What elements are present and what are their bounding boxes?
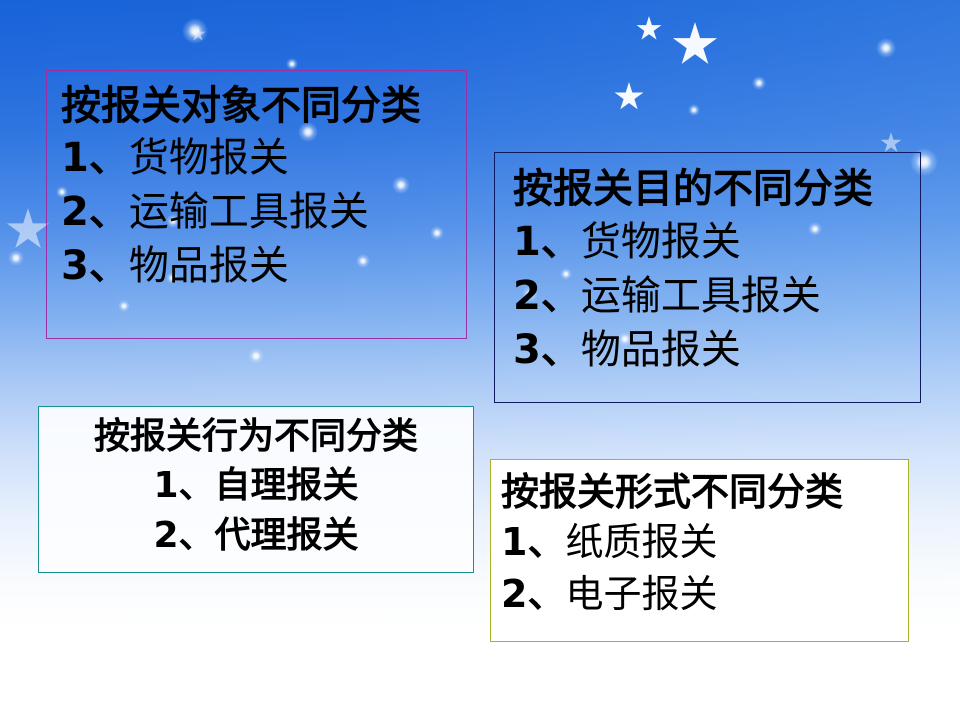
box-purpose-item-2: 2、运输工具报关 xyxy=(513,269,920,323)
box-object-item-3: 3、物品报关 xyxy=(61,239,466,293)
slide-canvas: 按报关对象不同分类 1、货物报关 2、运输工具报关 3、物品报关 按报关目的不同… xyxy=(0,0,960,720)
classification-box-behavior: 按报关行为不同分类 1、自理报关 2、代理报关 xyxy=(38,406,474,573)
box-form-item-1: 1、纸质报关 xyxy=(501,516,908,568)
item-number: 1、 xyxy=(513,219,581,265)
classification-box-object: 按报关对象不同分类 1、货物报关 2、运输工具报关 3、物品报关 xyxy=(46,70,467,339)
item-text: 电子报关 xyxy=(565,572,717,616)
box-form-title: 按报关形式不同分类 xyxy=(501,468,908,516)
item-text: 货物报关 xyxy=(581,219,741,265)
item-number: 2、 xyxy=(61,189,129,235)
box-object-title: 按报关对象不同分类 xyxy=(61,81,466,131)
item-number: 2、 xyxy=(501,572,565,616)
classification-box-form: 按报关形式不同分类 1、纸质报关 2、电子报关 xyxy=(490,459,909,642)
item-number: 3、 xyxy=(61,243,129,289)
box-behavior-title: 按报关行为不同分类 xyxy=(39,413,473,461)
item-number: 2、 xyxy=(153,515,214,556)
item-text: 运输工具报关 xyxy=(581,273,821,319)
item-number: 1、 xyxy=(61,135,129,181)
item-text: 自理报关 xyxy=(215,465,359,506)
item-text: 代理报关 xyxy=(215,515,359,556)
item-number: 2、 xyxy=(513,273,581,319)
box-object-item-1: 1、货物报关 xyxy=(61,131,466,185)
box-form-item-2: 2、电子报关 xyxy=(501,568,908,620)
box-behavior-item-2: 2、代理报关 xyxy=(39,511,473,561)
item-number: 3、 xyxy=(513,327,581,373)
item-text: 物品报关 xyxy=(581,327,741,373)
classification-box-purpose: 按报关目的不同分类 1、货物报关 2、运输工具报关 3、物品报关 xyxy=(494,152,921,403)
box-purpose-item-3: 3、物品报关 xyxy=(513,323,920,377)
box-purpose-title: 按报关目的不同分类 xyxy=(513,163,920,215)
box-purpose-item-1: 1、货物报关 xyxy=(513,215,920,269)
item-text: 运输工具报关 xyxy=(129,189,369,235)
item-number: 1、 xyxy=(501,520,565,564)
item-text: 纸质报关 xyxy=(565,520,717,564)
item-text: 货物报关 xyxy=(129,135,289,181)
item-text: 物品报关 xyxy=(129,243,289,289)
item-number: 1、 xyxy=(153,465,214,506)
box-behavior-item-1: 1、自理报关 xyxy=(39,461,473,511)
box-object-item-2: 2、运输工具报关 xyxy=(61,185,466,239)
